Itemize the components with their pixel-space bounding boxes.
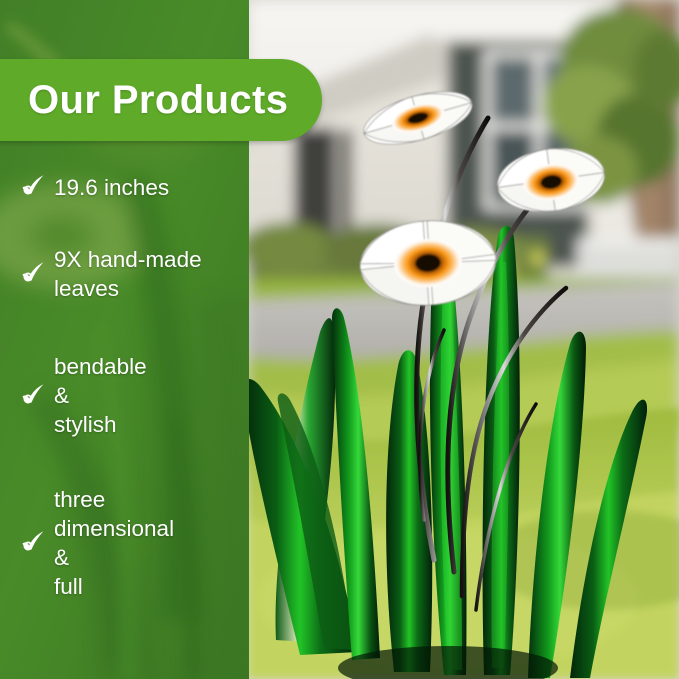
check-icon [18,381,48,411]
products-banner: Our Products [0,59,322,141]
feature-item: 19.6 inches [18,172,250,202]
page-title: Our Products [28,78,288,123]
feature-item: bendable & stylish [18,352,250,439]
check-icon [18,172,48,202]
feature-label: bendable & stylish [54,352,147,439]
feature-item: 9X hand-made leaves [18,245,250,303]
product-feature-image: Our Products 19.6 inches 9X hand-made le… [0,0,679,679]
check-icon [18,259,48,289]
check-icon [18,528,48,558]
feature-item: three dimensional & full [18,485,250,601]
feature-label: 19.6 inches [54,173,169,202]
feature-label: 9X hand-made leaves [54,245,202,303]
feature-label: three dimensional & full [54,485,174,601]
